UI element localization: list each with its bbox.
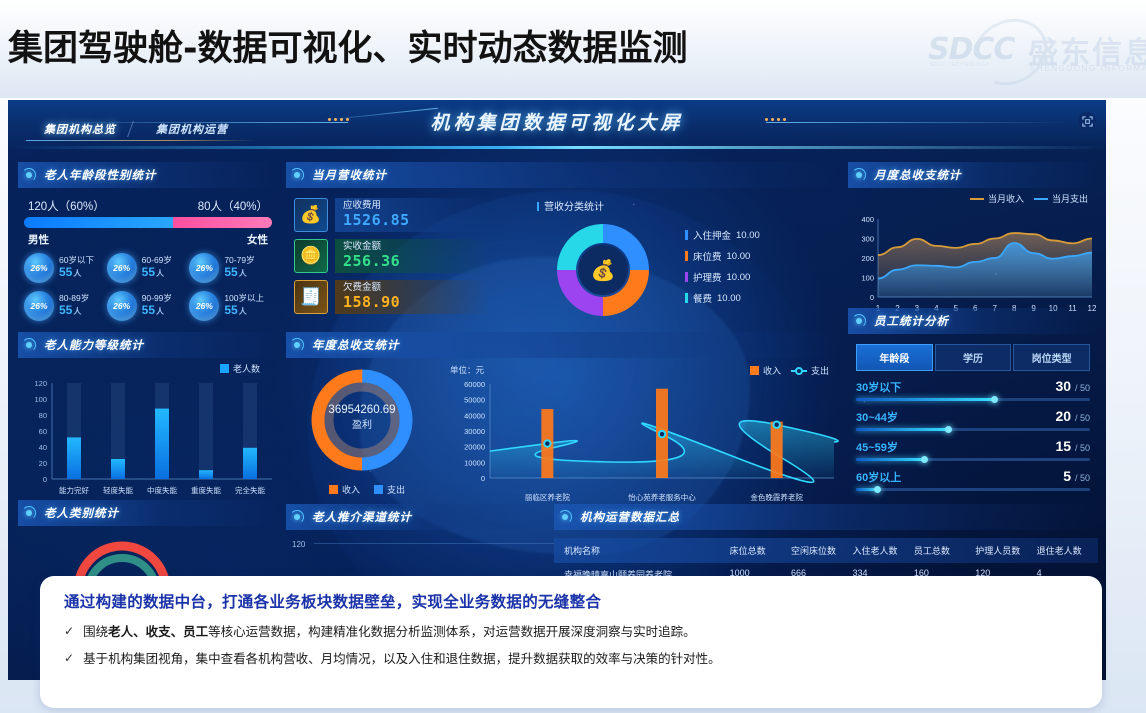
age-group-item[interactable]: 26% 80-89岁 55人 xyxy=(24,291,107,321)
monthly-area-chart: 0100200300400123456789101112 xyxy=(852,205,1098,323)
panel-annual-revenue: 年度总收支统计 36954260.69 盈利 收入 支出 单位：元 收入 xyxy=(286,332,841,496)
legend-line-icon xyxy=(1034,195,1048,203)
svg-text:怡心苑养老服务中心: 怡心苑养老服务中心 xyxy=(628,492,696,502)
panel-title: 机构运营数据汇总 xyxy=(580,509,680,525)
staff-row-label: 30岁以下 xyxy=(856,379,901,395)
column-header-staff: 员工总数 xyxy=(914,544,975,557)
panel-orb-icon xyxy=(290,168,304,182)
gender-bar-male xyxy=(24,217,173,228)
gender-counts: 120人（60%） 80人（40%） xyxy=(24,198,272,217)
legend-item-income[interactable]: 当月收入 xyxy=(970,192,1024,205)
monthly-chart-legend: 当月收入 当月支出 xyxy=(852,192,1094,205)
staff-row-total: / 50 xyxy=(1075,443,1090,453)
logo-en-text: SHENGDONG INFORMATION xyxy=(1030,64,1146,73)
legend-swatch xyxy=(685,293,688,303)
svg-text:100: 100 xyxy=(861,274,874,283)
staff-row-total: / 50 xyxy=(1075,383,1090,393)
ability-bar-chart: 020406080100120能力完好轻度失能中度失能重度失能完全失能 xyxy=(22,375,278,505)
dashboard-tabs: 集团机构总览 集团机构运营 xyxy=(30,118,242,140)
table-header-row: 机构名称 床位总数 空闲床位数 入住老人数 员工总数 护理人员数 退住老人数 xyxy=(554,538,1098,563)
revenue-category-chart-wrap: 营收分类统计 💰 入住押金10.00 床位费10.00 护理费10.00 餐费1… xyxy=(489,198,833,321)
callout-bullet-text: 围绕老人、收支、员工等核心运营数据，构建精准化数据分析监测体系，对运营数据开展深… xyxy=(83,623,696,641)
panel-orb-icon xyxy=(852,168,866,182)
age-group-item[interactable]: 26% 60岁以下 55人 xyxy=(24,253,107,283)
panel-title: 年度总收支统计 xyxy=(312,337,400,353)
age-percent: 26% xyxy=(196,263,213,273)
age-group-unit: 人 xyxy=(239,307,247,316)
profit-donut-legend: 收入 支出 xyxy=(292,483,442,496)
column-header-residents: 入住老人数 xyxy=(852,544,913,557)
panel-orb-icon xyxy=(22,338,36,352)
legend-label: 床位费 xyxy=(693,249,722,263)
gender-bar-female xyxy=(173,217,272,228)
panel-title: 老人能力等级统计 xyxy=(44,337,144,353)
legend-item[interactable]: 餐费10.00 xyxy=(685,291,760,305)
legend-value: 10.00 xyxy=(727,251,751,262)
panel-orb-icon xyxy=(22,506,36,520)
svg-text:0: 0 xyxy=(870,293,874,302)
revenue-donut-legend: 入住押金10.00 床位费10.00 护理费10.00 餐费10.00 xyxy=(685,228,760,312)
svg-text:200: 200 xyxy=(861,254,874,263)
svg-text:完全失能: 完全失能 xyxy=(235,485,265,495)
age-percent: 26% xyxy=(30,301,47,311)
check-icon: ✓ xyxy=(64,650,74,667)
summary-callout: 通过构建的数据中台，打通各业务板块数据壁垒，实现全业务数据的无缝整合 ✓ 围绕老… xyxy=(40,576,1102,708)
svg-text:120: 120 xyxy=(34,379,47,388)
revenue-card-received[interactable]: 🪙 实收金额 256.36 xyxy=(294,239,489,273)
age-percent-ball: 26% xyxy=(107,253,137,283)
staff-progress-track xyxy=(856,488,1090,491)
legend-line-icon xyxy=(970,195,984,203)
staff-tab-education[interactable]: 学历 xyxy=(935,344,1012,371)
cash-box-icon: 🪙 xyxy=(294,239,328,273)
panel-header: 年度总收支统计 xyxy=(286,332,841,358)
legend-item[interactable]: 收入 xyxy=(329,483,360,496)
staff-row: 60岁以上 5 / 50 xyxy=(856,468,1090,491)
revenue-card-overdue[interactable]: 🧾 欠费金额 158.90 xyxy=(294,280,489,314)
age-percent: 26% xyxy=(113,301,130,311)
panel-body: 老人数 020406080100120能力完好轻度失能中度失能重度失能完全失能 xyxy=(18,358,278,510)
topbar-glow xyxy=(8,146,1106,149)
age-percent-ball: 26% xyxy=(107,291,137,321)
svg-text:20: 20 xyxy=(39,459,47,468)
company-logo-watermark: SDCC SDCC TECHNOLOGY 盛东信息 SHENGDONG INFO… xyxy=(920,14,1146,88)
slide-header: 集团驾驶舱-数据可视化、实时动态数据监测 SDCC SDCC TECHNOLOG… xyxy=(0,0,1146,98)
svg-text:60000: 60000 xyxy=(464,380,485,389)
staff-tab-age[interactable]: 年龄段 xyxy=(856,344,933,371)
panel-ability-level: 老人能力等级统计 老人数 020406080100120能力完好轻度失能中度失能… xyxy=(18,332,278,510)
panel-title: 员工统计分析 xyxy=(874,313,949,329)
staff-tabs: 年龄段 学历 岗位类型 xyxy=(856,344,1090,371)
staff-row: 30~44岁 20 / 50 xyxy=(856,408,1090,431)
age-group-item[interactable]: 26% 100岁以上 55人 xyxy=(189,291,272,321)
age-group-item[interactable]: 26% 60-69岁 55人 xyxy=(107,253,190,283)
fullscreen-icon[interactable] xyxy=(1078,112,1096,130)
logo-brand-sub: SDCC TECHNOLOGY xyxy=(930,62,989,68)
tabs-underline xyxy=(26,140,256,141)
panel-body: 💰 应收费用 1526.85 🪙 实收金额 256.36 🧾 xyxy=(286,188,841,321)
age-group-unit: 人 xyxy=(73,269,81,278)
female-count: 80人（40%） xyxy=(198,198,268,214)
profit-center-text: 36954260.69 盈利 xyxy=(292,404,432,431)
age-group-value: 55 xyxy=(59,265,72,279)
gender-labels: 男性 女性 xyxy=(24,228,272,247)
staff-row-value: 30 xyxy=(1056,378,1072,394)
panel-title: 老人年龄段性别统计 xyxy=(44,167,157,183)
panel-orb-icon xyxy=(290,338,304,352)
legend-label: 当月支出 xyxy=(1052,192,1088,205)
svg-text:20000: 20000 xyxy=(464,443,485,452)
staff-progress-track xyxy=(856,428,1090,431)
panel-body: 年龄段 学历 岗位类型 30岁以下 30 / 50 30~44岁 20 / 50… xyxy=(848,334,1098,491)
staff-tab-position[interactable]: 岗位类型 xyxy=(1013,344,1090,371)
panel-body: 当月收入 当月支出 0100200300400123456789101112 xyxy=(848,188,1098,328)
callout-title: 通过构建的数据中台，打通各业务板块数据壁垒，实现全业务数据的无缝整合 xyxy=(64,590,1080,612)
panel-header: 机构运营数据汇总 xyxy=(554,504,1098,530)
age-group-unit: 人 xyxy=(156,307,164,316)
svg-text:能力完好: 能力完好 xyxy=(59,485,89,495)
panel-header: 老人年龄段性别统计 xyxy=(18,162,278,188)
legend-swatch xyxy=(374,485,383,494)
svg-text:40000: 40000 xyxy=(464,411,485,420)
age-group-unit: 人 xyxy=(156,269,164,278)
age-percent-ball: 26% xyxy=(189,291,219,321)
age-group-unit: 人 xyxy=(239,269,247,278)
staff-progress-track xyxy=(856,458,1090,461)
tab-group-operations[interactable]: 集团机构运营 xyxy=(142,118,242,140)
svg-text:0: 0 xyxy=(481,474,485,483)
tab-group-overview[interactable]: 集团机构总览 xyxy=(30,118,130,140)
svg-text:80: 80 xyxy=(39,411,47,420)
age-percent-ball: 26% xyxy=(24,253,54,283)
panel-monthly-total: 月度总收支统计 当月收入 当月支出 0100200300400123456789… xyxy=(848,162,1098,328)
svg-text:50000: 50000 xyxy=(464,396,485,405)
legend-label: 入住押金 xyxy=(693,228,731,242)
legend-swatch xyxy=(685,251,688,261)
check-icon: ✓ xyxy=(64,623,74,640)
panel-referral-channel: 老人推介渠道统计 120 xyxy=(286,504,546,544)
svg-text:重度失能: 重度失能 xyxy=(191,485,221,495)
revenue-card-receivable[interactable]: 💰 应收费用 1526.85 xyxy=(294,198,489,232)
profit-label: 盈利 xyxy=(292,416,432,431)
svg-text:100: 100 xyxy=(34,395,47,404)
staff-progress-fill xyxy=(856,488,879,491)
column-header-name: 机构名称 xyxy=(554,544,730,557)
legend-value: 10.00 xyxy=(717,293,741,304)
legend-item[interactable]: 护理费10.00 xyxy=(685,270,760,284)
panel-body: 36954260.69 盈利 收入 支出 单位：元 收入 支出 01000 xyxy=(286,358,841,496)
callout-bullet: ✓ 基于机构集团视角，集中查看各机构营收、月均情况，以及入住和退住数据，提升数据… xyxy=(64,650,1080,668)
panel-header: 老人类别统计 xyxy=(18,500,278,526)
svg-text:400: 400 xyxy=(861,215,874,224)
staff-row-value: 20 xyxy=(1056,408,1072,424)
panel-title: 老人类别统计 xyxy=(44,505,119,521)
panel-header: 员工统计分析 xyxy=(848,308,1098,334)
legend-label: 收入 xyxy=(342,483,360,496)
age-percent: 26% xyxy=(30,263,47,273)
column-header-total-beds: 床位总数 xyxy=(730,544,791,557)
dashboard-topbar: 机构集团数据可视化大屏 集团机构总览 集团机构运营 xyxy=(8,100,1106,152)
staff-row: 30岁以下 30 / 50 xyxy=(856,378,1090,401)
legend-value: 10.00 xyxy=(727,272,751,283)
svg-text:中度失能: 中度失能 xyxy=(147,485,177,495)
callout-bullet-text: 基于机构集团视角，集中查看各机构营收、月均情况，以及入住和退住数据，提升数据获取… xyxy=(83,650,721,668)
revenue-donut-chart: 💰 xyxy=(519,212,689,330)
staff-progress-fill xyxy=(856,398,996,401)
female-label: 女性 xyxy=(247,232,268,247)
legend-item[interactable]: 入住押金10.00 xyxy=(685,228,760,242)
revenue-card-value: 1526.85 xyxy=(343,212,481,229)
age-percent-ball: 26% xyxy=(24,291,54,321)
svg-text:60: 60 xyxy=(39,427,47,436)
panel-operation-summary: 机构运营数据汇总 机构名称 床位总数 空闲床位数 入住老人数 员工总数 护理人员… xyxy=(554,504,1098,586)
staff-row-label: 45~59岁 xyxy=(856,439,898,455)
age-percent: 26% xyxy=(113,263,130,273)
panel-orb-icon xyxy=(852,314,866,328)
staff-progress-fill xyxy=(856,428,950,431)
callout-emphasis: 老人、收支、员工 xyxy=(108,625,208,639)
age-group-value: 55 xyxy=(224,303,237,317)
staff-row-value: 5 xyxy=(1063,468,1071,484)
profit-donut-wrap: 36954260.69 盈利 收入 支出 xyxy=(292,364,442,496)
legend-swatch xyxy=(220,364,229,373)
panel-header: 当月营收统计 xyxy=(286,162,841,188)
panel-header: 老人推介渠道统计 xyxy=(286,504,546,530)
ability-chart-legend: 老人数 xyxy=(220,362,260,375)
age-percent: 26% xyxy=(196,301,213,311)
staff-row-label: 60岁以上 xyxy=(856,469,901,485)
staff-row: 45~59岁 15 / 50 xyxy=(856,438,1090,461)
legend-swatch xyxy=(685,272,688,282)
callout-bullet: ✓ 围绕老人、收支、员工等核心运营数据，构建精准化数据分析监测体系，对运营数据开… xyxy=(64,623,1080,641)
panel-staff-stats: 员工统计分析 年龄段 学历 岗位类型 30岁以下 30 / 50 30~44岁 … xyxy=(848,308,1098,491)
male-count: 120人（60%） xyxy=(28,198,105,214)
legend-swatch xyxy=(685,230,688,240)
panel-header: 月度总收支统计 xyxy=(848,162,1098,188)
svg-text:💰: 💰 xyxy=(591,258,616,282)
channel-gridline xyxy=(314,543,554,544)
svg-text:丽临区养老院: 丽临区养老院 xyxy=(525,492,570,502)
legend-label: 当月收入 xyxy=(988,192,1024,205)
column-header-nurses: 护理人员数 xyxy=(975,544,1036,557)
svg-text:0: 0 xyxy=(43,475,47,484)
age-group-item[interactable]: 26% 70-79岁 55人 xyxy=(189,253,272,283)
legend-value: 10.00 xyxy=(736,230,760,241)
staff-row-total: / 50 xyxy=(1075,413,1090,423)
channel-ytick: 120 xyxy=(292,540,546,549)
legend-label: 支出 xyxy=(387,483,405,496)
age-group-value: 55 xyxy=(142,303,155,317)
age-group-item[interactable]: 26% 90-99岁 55人 xyxy=(107,291,190,321)
svg-text:30000: 30000 xyxy=(464,427,485,436)
staff-row-label: 30~44岁 xyxy=(856,409,898,425)
legend-swatch xyxy=(329,485,338,494)
age-group-value: 55 xyxy=(224,265,237,279)
page-title: 集团驾驶舱-数据可视化、实时动态数据监测 xyxy=(8,20,688,71)
panel-header: 老人能力等级统计 xyxy=(18,332,278,358)
panel-title: 月度总收支统计 xyxy=(874,167,962,183)
staff-row-total: / 50 xyxy=(1075,473,1090,483)
age-group-value: 55 xyxy=(59,303,72,317)
male-label: 男性 xyxy=(28,232,49,247)
svg-text:300: 300 xyxy=(861,235,874,244)
panel-title: 老人推介渠道统计 xyxy=(312,509,412,525)
legend-label: 老人数 xyxy=(233,362,260,375)
legend-item[interactable]: 床位费10.00 xyxy=(685,249,760,263)
age-percent-ball: 26% xyxy=(189,253,219,283)
annual-institution-chart: 0100002000030000400005000060000丽临区养老院怡心苑… xyxy=(442,374,840,510)
column-header-checkout: 退住老人数 xyxy=(1037,544,1098,557)
staff-progress-track xyxy=(856,398,1090,401)
legend-item[interactable]: 支出 xyxy=(374,483,405,496)
panel-body: 120 xyxy=(286,530,546,544)
annual-institution-chart-wrap: 单位：元 收入 支出 01000020000300004000050000600… xyxy=(442,364,835,496)
panel-orb-icon xyxy=(290,510,304,524)
legend-label: 护理费 xyxy=(693,270,722,284)
svg-text:10000: 10000 xyxy=(464,458,485,467)
gender-ratio-bar xyxy=(24,217,272,228)
panel-orb-icon xyxy=(558,510,572,524)
svg-text:40: 40 xyxy=(39,443,47,452)
staff-row-value: 15 xyxy=(1056,438,1072,454)
panel-title: 当月营收统计 xyxy=(312,167,387,183)
revenue-card-value: 256.36 xyxy=(343,253,481,270)
legend-label: 餐费 xyxy=(693,291,712,305)
staff-progress-fill xyxy=(856,458,926,461)
age-group-grid: 26% 60岁以下 55人 26% 60-69岁 55人 26% 70-79岁 … xyxy=(24,253,272,321)
donut-chart-title: 营收分类统计 xyxy=(489,198,833,213)
panel-elderly-age-gender: 老人年龄段性别统计 120人（60%） 80人（40%） 男性 女性 26% 6… xyxy=(18,162,278,321)
age-group-value: 55 xyxy=(142,265,155,279)
revenue-card-value: 158.90 xyxy=(343,294,481,311)
svg-text:金色晚霞养老院: 金色晚霞养老院 xyxy=(750,492,803,502)
panel-orb-icon xyxy=(22,168,36,182)
panel-month-revenue: 当月营收统计 💰 应收费用 1526.85 🪙 实收金额 256.36 xyxy=(286,162,841,321)
money-bag-icon: 💰 xyxy=(294,198,328,232)
revenue-cards: 💰 应收费用 1526.85 🪙 实收金额 256.36 🧾 xyxy=(294,198,489,321)
svg-text:轻度失能: 轻度失能 xyxy=(103,485,133,495)
profit-value: 36954260.69 xyxy=(292,404,432,416)
column-header-free-beds: 空闲床位数 xyxy=(791,544,852,557)
legend-item-expense[interactable]: 当月支出 xyxy=(1034,192,1088,205)
age-group-unit: 人 xyxy=(73,307,81,316)
overdue-icon: 🧾 xyxy=(294,280,328,314)
panel-body: 120人（60%） 80人（40%） 男性 女性 26% 60岁以下 55人 2… xyxy=(18,188,278,321)
